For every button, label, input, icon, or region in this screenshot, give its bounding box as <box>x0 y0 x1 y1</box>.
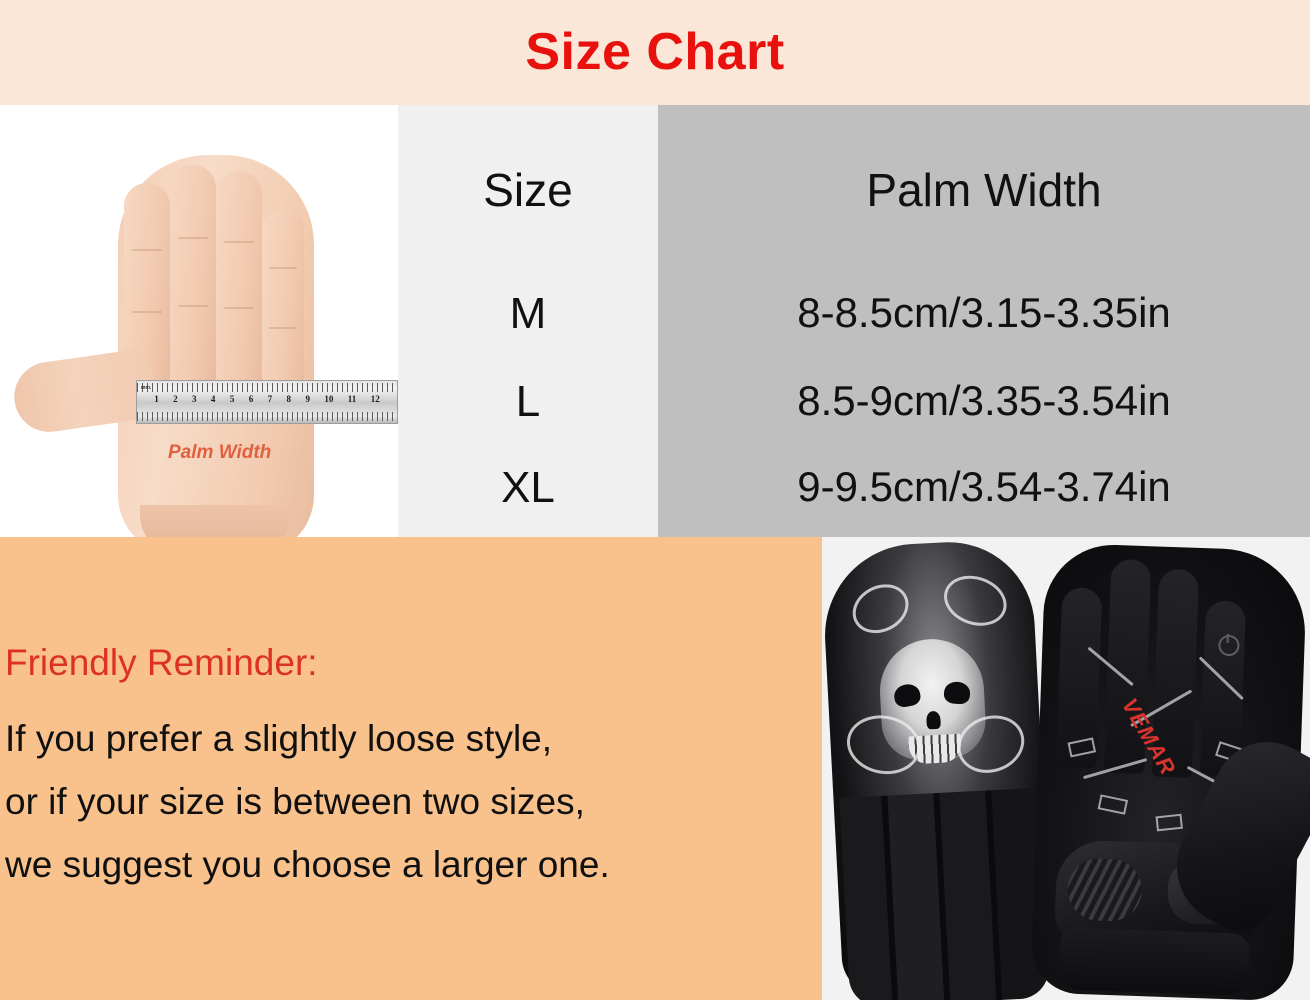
page-title: Size Chart <box>0 22 1310 82</box>
tribal-pattern <box>844 575 917 642</box>
table-row-size-m: M <box>398 289 658 339</box>
finger-ring <box>216 171 262 395</box>
table-row-size-l: L <box>398 377 658 427</box>
ruler-numbers: 1 2 3 4 5 6 7 8 9 10 11 12 <box>137 394 397 404</box>
ruler-number: 8 <box>287 394 292 404</box>
reminder-line: we suggest you choose a larger one. <box>5 844 610 886</box>
table-row-palm-width-l: 8.5-9cm/3.35-3.54in <box>658 377 1310 425</box>
print-detail <box>1098 794 1129 814</box>
glove-cuff <box>1058 927 1250 996</box>
ruler-number: 12 <box>371 394 380 404</box>
size-chart-page: Size Chart mm. 1 2 3 <box>0 0 1310 1000</box>
ruler-number: 2 <box>173 394 178 404</box>
table-row-palm-width-xl: 9-9.5cm/3.54-3.74in <box>658 463 1310 511</box>
ruler-icon: mm. 1 2 3 4 5 6 7 8 9 10 11 12 <box>136 380 398 424</box>
table-header-size: Size <box>398 163 658 217</box>
glove-product-photo: VEMAR <box>822 537 1310 1000</box>
table-column-size: Size M L XL <box>398 105 658 537</box>
tribal-pattern <box>937 568 1013 634</box>
ruler-number: 3 <box>192 394 197 404</box>
finger-middle <box>170 165 216 393</box>
ruler-number: 11 <box>348 394 357 404</box>
print-detail <box>1156 814 1183 832</box>
table-row-palm-width-m: 8-8.5cm/3.15-3.35in <box>658 289 1310 337</box>
glove-back-of-hand <box>822 538 1054 998</box>
ruler-number: 7 <box>268 394 273 404</box>
reminder-title: Friendly Reminder: <box>5 642 318 684</box>
glove-palm-side: VEMAR <box>1030 543 1308 1000</box>
skull-eye <box>943 681 971 705</box>
reminder-line: or if your size is between two sizes, <box>5 781 585 823</box>
table-header-palm-width: Palm Width <box>658 163 1310 217</box>
title-band: Size Chart <box>0 0 1310 105</box>
ruler-number: 4 <box>211 394 216 404</box>
ruler-number: 1 <box>154 394 159 404</box>
table-column-palm-width: Palm Width 8-8.5cm/3.15-3.35in 8.5-9cm/3… <box>658 105 1310 537</box>
ruler-number: 5 <box>230 394 235 404</box>
reminder-line: If you prefer a slightly loose style, <box>5 718 552 760</box>
palm-width-caption: Palm Width <box>168 442 271 464</box>
hand-measurement-photo: mm. 1 2 3 4 5 6 7 8 9 10 11 12 Palm Widt… <box>0 105 398 537</box>
table-row-size-xl: XL <box>398 463 658 513</box>
ruler-number: 10 <box>324 394 333 404</box>
finger-pinky <box>262 209 304 399</box>
skull-nose <box>926 711 941 730</box>
ruler-number: 6 <box>249 394 254 404</box>
ruler-ticks-top <box>137 383 397 392</box>
ruler-number: 9 <box>305 394 310 404</box>
wrist-shape <box>140 505 290 537</box>
ruler-unit-label: mm. <box>141 385 151 391</box>
skull-eye <box>892 682 922 709</box>
glove-back-fingers <box>839 788 1050 1000</box>
ruler-ticks-bottom <box>137 412 397 421</box>
